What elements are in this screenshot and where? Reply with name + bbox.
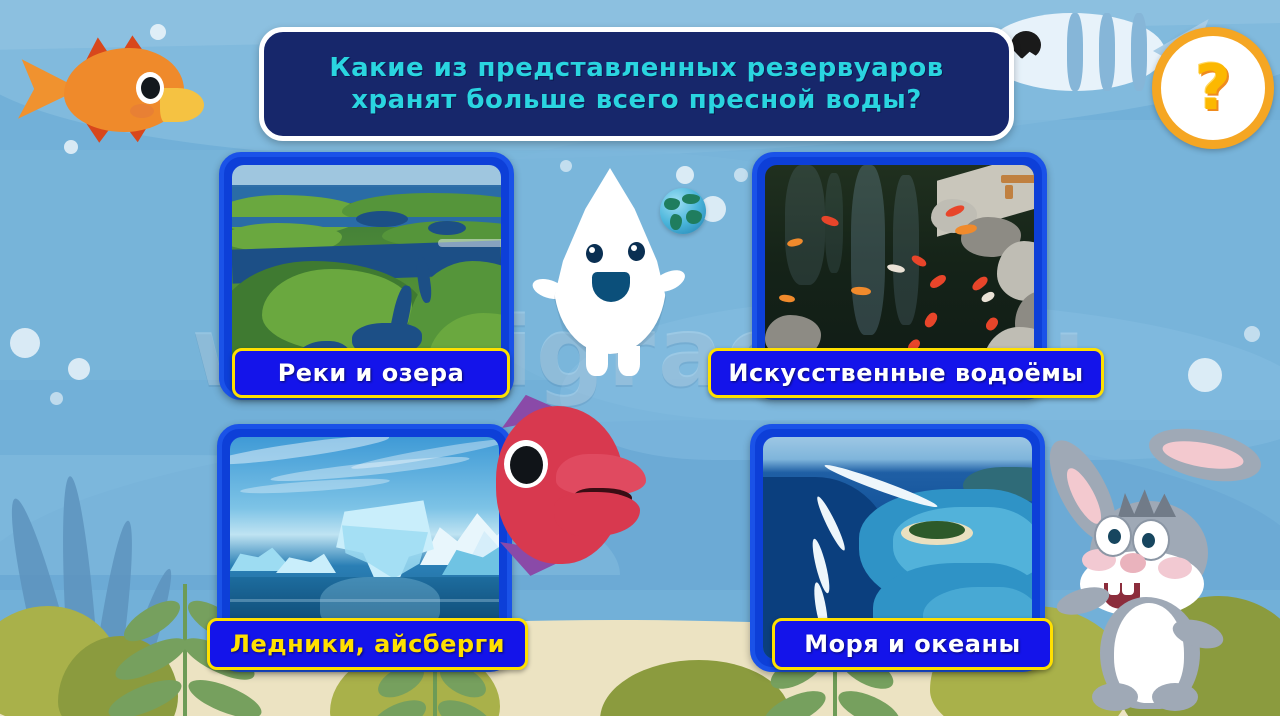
answer-label-rivers[interactable]: Реки и озера [232,348,510,398]
question-line-2: хранят больше всего пресной воды? [351,84,922,117]
bubble [1188,358,1222,392]
question-mark-icon: ? [1195,57,1231,119]
red-fish [496,396,686,576]
droplet-right-leg [618,346,640,376]
bunny-left-arm [1054,582,1113,620]
bubble [10,328,40,358]
red-fish-lower-lip [554,492,640,536]
bunny-right-cheek [1158,557,1192,579]
bunny-head-tuft [1118,487,1176,517]
answer-label-glaciers[interactable]: Ледники, айсберги [207,618,528,670]
droplet-left-eye [586,244,603,263]
water-droplet-mascot [540,168,680,366]
answer-label-oceans[interactable]: Моря и океаны [772,618,1053,670]
quiz-slide: www.igraeva.ru Какие из представленных р… [0,0,1280,716]
orange-fish-cheek [130,104,154,118]
bubble [1244,326,1260,342]
droplet-body [554,168,666,354]
bubble [68,358,90,380]
bunny-nose [1120,553,1146,573]
bunny-tooth [1108,583,1120,595]
globe-icon [660,188,706,234]
bunny-character [1052,425,1262,715]
bunny-tooth [1122,583,1134,595]
red-fish-eye [504,440,548,488]
bunny-right-pupil [1142,533,1155,548]
striped-fish-stripe [1131,13,1147,91]
answer-label-artificial[interactable]: Искусственные водоёмы [708,348,1104,398]
question-banner: Какие из представленных резервуаров хран… [259,27,1014,141]
orange-fish-mouth [160,88,204,122]
bunny-right-foot [1152,683,1198,711]
bubble [734,168,748,182]
striped-fish-stripe [1099,13,1115,91]
orange-fish [18,34,208,144]
help-button[interactable]: ? [1152,27,1274,149]
bunny-left-pupil [1108,529,1121,544]
bubble [50,392,63,405]
striped-fish-stripe [1067,13,1083,91]
droplet-right-eye [628,242,645,261]
orange-fish-eye [136,72,164,104]
question-line-1: Какие из представленных резервуаров [329,52,943,85]
bunny-left-foot [1092,683,1138,711]
droplet-left-leg [586,346,608,376]
